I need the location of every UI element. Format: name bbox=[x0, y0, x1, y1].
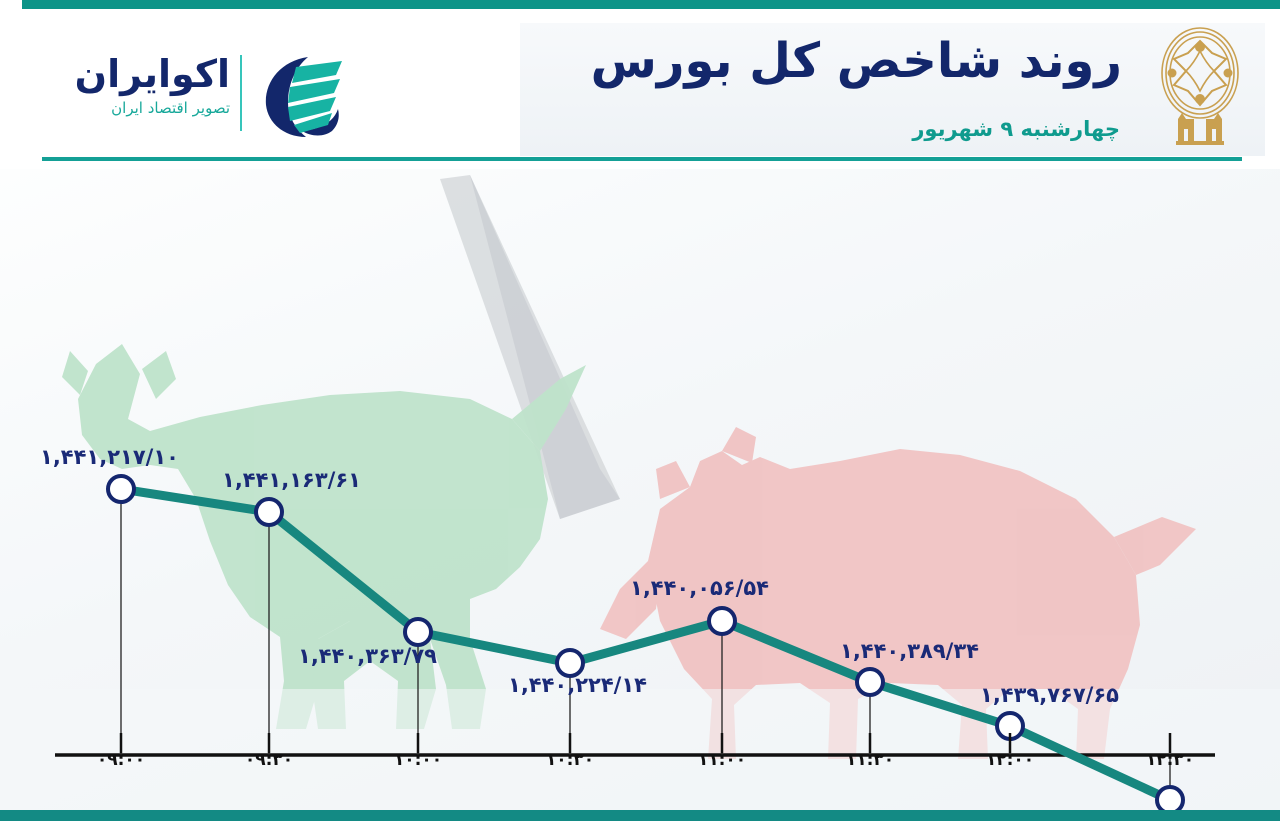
data-value-label: ۱,۴۴۰,۲۲۴/۱۴ bbox=[508, 673, 647, 697]
data-point-marker[interactable] bbox=[405, 619, 431, 645]
data-point-marker[interactable] bbox=[709, 608, 735, 634]
top-accent-bar bbox=[22, 0, 1280, 9]
data-point-marker[interactable] bbox=[256, 499, 282, 525]
x-axis-tick-label: ۱۱:۳۰ bbox=[846, 750, 894, 770]
header-date: چهارشنبه ۹ شهریور bbox=[912, 117, 1120, 141]
infographic-root: روند شاخص کل بورس چهارشنبه ۹ شهریور اکوا… bbox=[0, 0, 1280, 821]
x-axis-tick-label: ۱۱:۰۰ bbox=[698, 750, 746, 770]
x-axis-tick-label: ۰۹:۳۰ bbox=[245, 750, 293, 770]
data-value-label: ۱,۴۴۰,۳۶۳/۷۹ bbox=[298, 644, 437, 668]
data-point-marker[interactable] bbox=[857, 669, 883, 695]
brand-name: اکوایران bbox=[75, 55, 230, 93]
data-value-label: ۱,۴۳۹,۷۶۷/۶۵ bbox=[980, 683, 1119, 707]
x-axis-tick-label: ۱۰:۰۰ bbox=[394, 750, 442, 770]
brand-logo-text: اکوایران تصویر اقتصاد ایران bbox=[75, 55, 230, 117]
x-axis-tick-label: ۰۹:۰۰ bbox=[97, 750, 145, 770]
logo-divider bbox=[240, 55, 242, 131]
tehran-stock-exchange-emblem-icon bbox=[1152, 23, 1248, 155]
x-axis-tick-label: ۱۲:۳۰ bbox=[1146, 750, 1194, 770]
data-point-marker[interactable] bbox=[1157, 787, 1183, 810]
page-title: روند شاخص کل بورس bbox=[591, 33, 1122, 89]
data-point-marker[interactable] bbox=[108, 476, 134, 502]
ecoiran-swoosh-logo-icon bbox=[250, 51, 350, 143]
data-value-label: ۱,۴۴۰,۰۵۶/۵۴ bbox=[630, 576, 769, 600]
brand-tagline: تصویر اقتصاد ایران bbox=[75, 99, 230, 117]
line-chart-plot bbox=[0, 169, 1280, 810]
chart-panel: ۰۹:۰۰۰۹:۳۰۱۰:۰۰۱۰:۳۰۱۱:۰۰۱۱:۳۰۱۲:۰۰۱۲:۳۰… bbox=[0, 169, 1280, 810]
x-axis-tick-label: ۱۰:۳۰ bbox=[546, 750, 594, 770]
header-divider-rule bbox=[42, 157, 1242, 161]
data-value-label: ۱,۴۴۰,۳۸۹/۳۴ bbox=[840, 639, 979, 663]
brand-logo: اکوایران تصویر اقتصاد ایران bbox=[60, 49, 360, 149]
data-value-label: ۱,۴۴۱,۲۱۷/۱۰ bbox=[40, 445, 179, 469]
x-axis-tick-label: ۱۲:۰۰ bbox=[986, 750, 1034, 770]
bottom-accent-bar bbox=[0, 810, 1280, 821]
data-value-label: ۱,۴۴۱,۱۶۳/۶۱ bbox=[222, 468, 361, 492]
header: روند شاخص کل بورس چهارشنبه ۹ شهریور اکوا… bbox=[0, 9, 1280, 169]
